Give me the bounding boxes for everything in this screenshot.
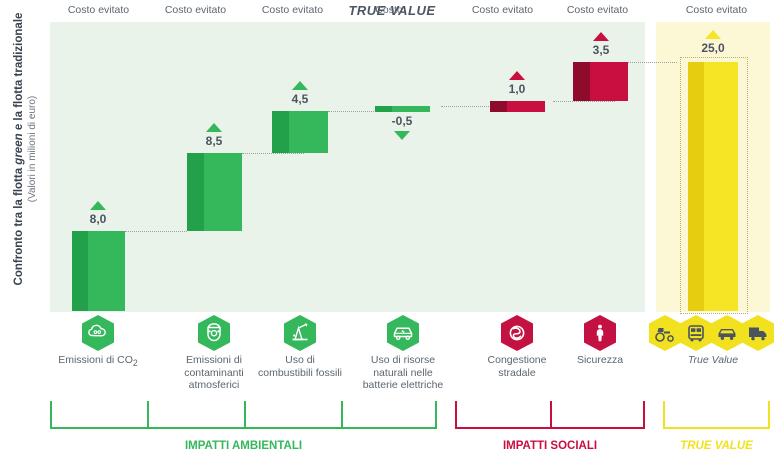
- arrow-up-icon-6: [593, 32, 609, 41]
- bracket-tick: [550, 401, 552, 427]
- bar-segment-dark: [272, 111, 289, 153]
- category-line-1: Emissioni di: [164, 354, 264, 367]
- bar-segment-light: [392, 106, 430, 112]
- arrow-up-icon-3: [292, 81, 308, 90]
- y-axis-label-unit: (Valori in milioni di euro): [26, 0, 39, 299]
- bracket-tick: [50, 401, 52, 427]
- bar-segment-light: [204, 153, 242, 231]
- bracket-tick: [663, 401, 665, 427]
- value-label-3: 4,5: [270, 92, 330, 106]
- arrow-down-icon-4: [394, 131, 410, 140]
- arrow-up-icon-1: [90, 201, 106, 210]
- bracket-tick: [147, 401, 149, 427]
- arrow-up-icon-5: [509, 71, 525, 80]
- cost-label-1: Costo evitato: [50, 4, 147, 16]
- bracket-tick: [455, 401, 457, 427]
- bar-segment-dark: [187, 153, 204, 231]
- bar-true-value[interactable]: [688, 62, 738, 311]
- group-label-true-value: TRUE VALUE: [663, 440, 770, 452]
- bar-segment-dark: [375, 106, 392, 112]
- category-line-2: stradale: [467, 367, 567, 380]
- value-label-2: 8,5: [184, 134, 244, 148]
- category-line-1: True Value: [663, 354, 763, 367]
- bracket-tick: [244, 401, 246, 427]
- bar-segment-dark: [490, 101, 507, 112]
- category-label-2: Emissioni di contaminanti atmosferici: [164, 354, 264, 392]
- bracket-tick: [768, 401, 770, 427]
- category-line-1: Uso di: [250, 354, 350, 367]
- y-axis-label: Confronto tra la flotta green e la flott…: [13, 0, 47, 299]
- gas-mask-icon: [197, 314, 231, 352]
- category-label-6: Sicurezza: [550, 354, 650, 367]
- bar-segment-dark: [688, 62, 704, 311]
- cost-label-5: Costo evitato: [455, 4, 550, 16]
- bar-sicurezza[interactable]: [573, 62, 628, 101]
- bracket-tick: [341, 401, 343, 427]
- category-label-1: Emissioni di CO2: [48, 354, 148, 370]
- category-line-3: batterie elettriche: [353, 379, 453, 392]
- bar-combustibili-fossili[interactable]: [272, 111, 328, 153]
- battery-car-icon: [386, 314, 420, 352]
- bar-segment-dark: [573, 62, 590, 101]
- category-line-1: Sicurezza: [550, 354, 650, 367]
- cost-label-3: Costo evitato: [244, 4, 341, 16]
- category-line-2: naturali nelle: [353, 367, 453, 380]
- bar-segment-light: [289, 111, 328, 153]
- bar-segment-light: [590, 62, 628, 101]
- category-line-3: atmosferici: [164, 379, 264, 392]
- value-label-5: 1,0: [487, 82, 547, 96]
- category-label-3: Uso di combustibili fossili: [250, 354, 350, 379]
- bar-segment-dark: [72, 231, 88, 311]
- cost-label-7: Costo evitato: [663, 4, 770, 16]
- group-label-ambientali: IMPATTI AMBIENTALI: [50, 440, 437, 452]
- category-line-1: Emissioni di CO2: [58, 354, 138, 366]
- value-label-1: 8,0: [68, 212, 128, 226]
- arrow-up-icon-2: [206, 123, 222, 132]
- bus-icon: [679, 314, 713, 352]
- bracket-tick: [435, 401, 437, 427]
- category-line-1: Uso di risorse: [353, 354, 453, 367]
- traffic-icon: [500, 314, 534, 352]
- cost-label-4: Costo: [341, 4, 437, 16]
- chart-root: TRUE VALUE Confronto tra la flotta green…: [0, 0, 784, 464]
- group-label-sociali: IMPATTI SOCIALI: [455, 440, 645, 452]
- value-label-4: -0,5: [372, 114, 432, 128]
- pedestrian-icon: [583, 314, 617, 352]
- cost-label-2: Costo evitato: [147, 4, 244, 16]
- tractor-icon: [648, 314, 682, 352]
- bracket-tick: [643, 401, 645, 427]
- category-line-2: contaminanti: [164, 367, 264, 380]
- connector-2: [242, 153, 304, 155]
- bar-segment-light: [704, 62, 738, 311]
- plot-panel-impacts: [50, 22, 645, 312]
- car-icon: [710, 314, 744, 352]
- bar-segment-light: [507, 101, 545, 112]
- van-icon: [741, 314, 775, 352]
- bar-risorse-naturali[interactable]: [375, 106, 430, 112]
- bracket-true-value: [663, 401, 770, 429]
- y-axis-label-main: Confronto tra la flotta green e la flott…: [13, 0, 26, 299]
- connector-1: [125, 231, 187, 233]
- value-label-6: 3,5: [571, 43, 631, 57]
- cost-label-6: Costo evitato: [550, 4, 645, 16]
- oil-pump-icon: [283, 314, 317, 352]
- category-line-2: combustibili fossili: [250, 367, 350, 380]
- connector-5: [553, 101, 615, 103]
- category-label-4: Uso di risorse naturali nelle batterie e…: [353, 354, 453, 392]
- value-label-7: 25,0: [683, 41, 743, 55]
- cloud-icon: [81, 314, 115, 352]
- bar-emissioni-co2[interactable]: [72, 231, 125, 311]
- arrow-up-icon-7: [705, 30, 721, 39]
- bar-congestione-stradale[interactable]: [490, 101, 545, 112]
- bar-segment-light: [88, 231, 125, 311]
- bar-emissioni-contaminanti[interactable]: [187, 153, 242, 231]
- category-label-7: True Value: [663, 354, 763, 367]
